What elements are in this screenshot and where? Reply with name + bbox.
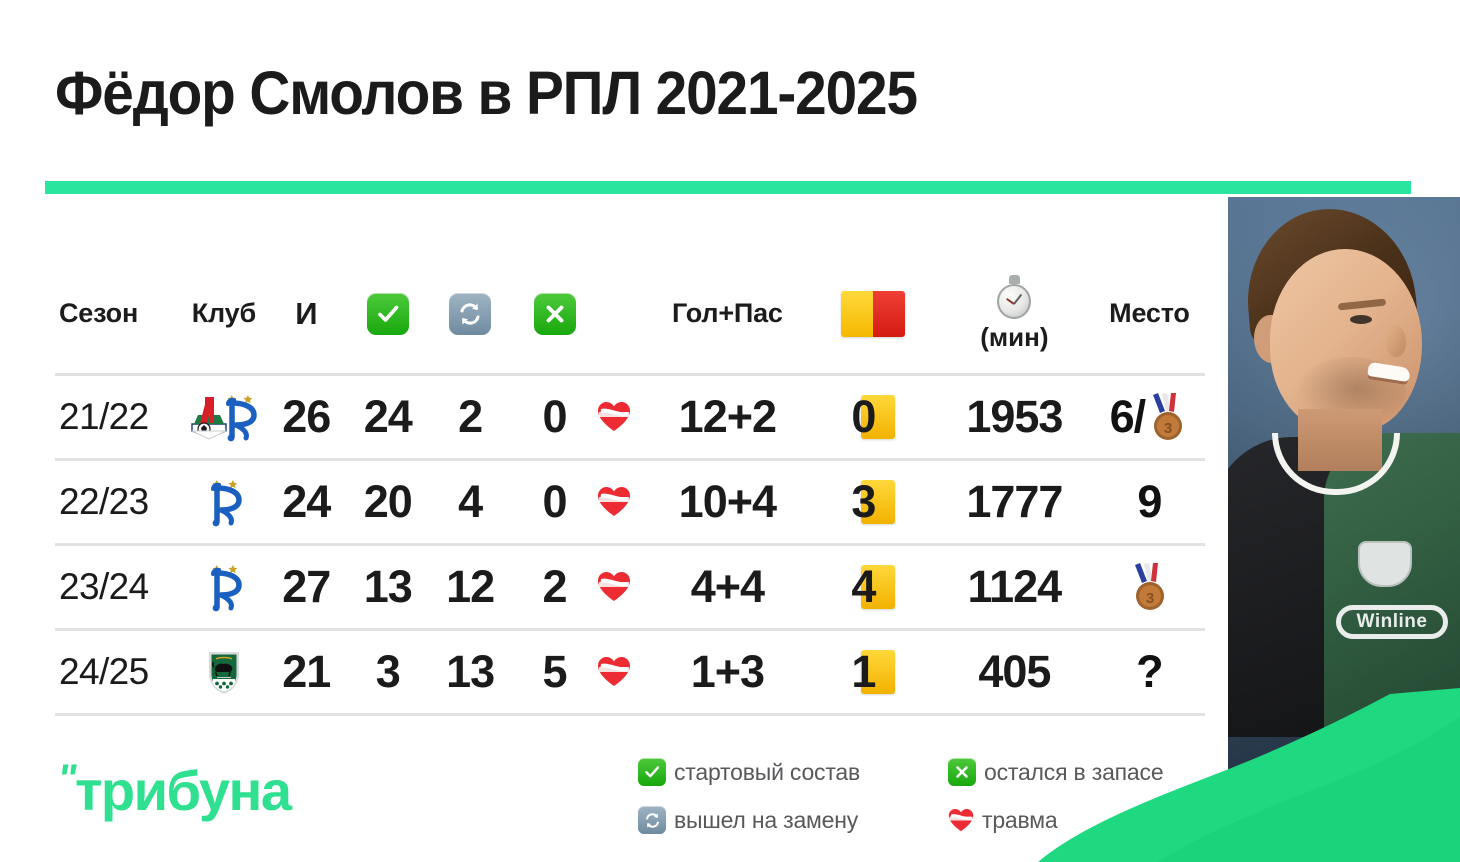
legend-label: вышел на замену xyxy=(674,807,858,834)
cell-cards: 0 xyxy=(812,376,935,458)
legend-label: травма xyxy=(982,807,1057,834)
cell-injury xyxy=(597,546,643,628)
cell-goals-assists: 12+2 xyxy=(643,376,812,458)
cell-injury xyxy=(597,376,643,458)
green-cross-icon xyxy=(534,293,576,335)
table-row[interactable]: 24/25 xyxy=(55,631,1205,716)
cell-goals-assists: 4+4 xyxy=(643,546,812,628)
green-cross-icon xyxy=(948,758,976,786)
yellow-red-card-icon xyxy=(841,291,905,337)
cell-club xyxy=(182,461,265,543)
photo-club-badge xyxy=(1358,541,1412,587)
table-row[interactable]: 21/22 xyxy=(55,376,1205,461)
table-header-row: Сезон Клуб И xyxy=(55,268,1205,376)
tribuna-wordmark: трибуна xyxy=(75,762,291,820)
cell-goals-assists: 10+4 xyxy=(643,461,812,543)
cell-club xyxy=(182,546,265,628)
legend-item-starting-lineup: стартовый состав xyxy=(638,758,948,786)
photo-nose xyxy=(1386,325,1406,357)
cell-place: 6/ 3 xyxy=(1094,376,1205,458)
dynamo-moscow-logo xyxy=(199,476,249,528)
legend-item-substitute: вышел на замену xyxy=(638,806,948,834)
injured-heart-icon xyxy=(597,571,631,603)
cell-club xyxy=(182,376,265,458)
cell-season: 24/25 xyxy=(55,631,182,713)
cell-cards: 3 xyxy=(812,461,935,543)
tribuna-logo[interactable]: " трибуна xyxy=(58,762,291,820)
cell-games: 24 xyxy=(266,461,347,543)
cell-season: 22/23 xyxy=(55,461,182,543)
red-card-half xyxy=(873,291,905,337)
cell-games: 21 xyxy=(266,631,347,713)
dynamo-moscow-logo xyxy=(214,391,264,443)
page-title: Фёдор Смолов в РПЛ 2021-2025 xyxy=(55,58,917,128)
green-check-icon xyxy=(367,293,409,335)
photo-sponsor-text: Winline xyxy=(1336,605,1448,639)
cell-starts: 13 xyxy=(347,546,428,628)
cell-games: 27 xyxy=(266,546,347,628)
cell-minutes: 1124 xyxy=(935,546,1094,628)
stats-table: Сезон Клуб И xyxy=(55,268,1205,716)
infographic-page: Фёдор Смолов в РПЛ 2021-2025 Winline Сез… xyxy=(0,0,1460,862)
krasnodar-logo xyxy=(199,646,249,698)
header-cards xyxy=(812,268,935,359)
cell-cards: 4 xyxy=(812,546,935,628)
header-club: Клуб xyxy=(182,268,265,359)
cell-starts: 20 xyxy=(347,461,428,543)
cell-minutes: 405 xyxy=(935,631,1094,713)
player-photo: Winline xyxy=(1228,197,1460,862)
header-season: Сезон xyxy=(55,268,182,359)
cell-season: 21/22 xyxy=(55,376,182,458)
injured-heart-icon xyxy=(597,486,631,518)
cell-bench: 0 xyxy=(512,461,597,543)
injured-heart-icon xyxy=(597,401,631,433)
cell-substitutions: 13 xyxy=(428,631,511,713)
cell-place: 3 xyxy=(1094,546,1205,628)
header-place: Место xyxy=(1094,268,1205,359)
legend-item-injury: травма xyxy=(948,806,1258,834)
minutes-unit-label: (мин) xyxy=(980,322,1048,353)
bronze-medal-icon: 3 xyxy=(1127,561,1171,613)
cell-place: ? xyxy=(1094,631,1205,713)
injured-heart-icon xyxy=(597,656,631,688)
legend: стартовый состав остался в запасе вышел … xyxy=(638,758,1258,834)
cell-cards: 1 xyxy=(812,631,935,713)
table-row[interactable]: 22/23 24 20 xyxy=(55,461,1205,546)
cell-substitutions: 12 xyxy=(428,546,511,628)
tribuna-quote-mark: " xyxy=(55,762,76,796)
dynamo-moscow-logo xyxy=(199,561,249,613)
legend-label: остался в запасе xyxy=(984,759,1163,786)
header-substitutions xyxy=(428,268,511,359)
header-starts xyxy=(347,268,428,359)
blue-substitution-icon xyxy=(638,806,666,834)
accent-bar xyxy=(45,181,1411,194)
cell-injury xyxy=(597,631,643,713)
header-goals-assists: Гол+Пас xyxy=(643,268,812,359)
svg-text:3: 3 xyxy=(1146,590,1154,607)
cell-club xyxy=(182,631,265,713)
cell-goals-assists: 1+3 xyxy=(643,631,812,713)
photo-eye xyxy=(1350,315,1372,324)
header-minutes: (мин) xyxy=(935,268,1094,359)
cell-substitutions: 4 xyxy=(428,461,511,543)
cell-injury xyxy=(597,461,643,543)
cell-bench: 2 xyxy=(512,546,597,628)
cell-minutes: 1953 xyxy=(935,376,1094,458)
cell-starts: 24 xyxy=(347,376,428,458)
cell-bench: 0 xyxy=(512,376,597,458)
bronze-medal-icon: 3 xyxy=(1145,391,1189,443)
cell-season: 23/24 xyxy=(55,546,182,628)
cell-place: 9 xyxy=(1094,461,1205,543)
svg-text:3: 3 xyxy=(1164,420,1172,437)
cell-substitutions: 2 xyxy=(428,376,511,458)
stopwatch-icon xyxy=(994,275,1034,321)
cell-games: 26 xyxy=(266,376,347,458)
legend-item-bench: остался в запасе xyxy=(948,758,1258,786)
injured-heart-icon xyxy=(948,808,974,833)
cell-starts: 3 xyxy=(347,631,428,713)
cell-minutes: 1777 xyxy=(935,461,1094,543)
header-bench xyxy=(512,268,597,359)
table-row[interactable]: 23/24 27 13 xyxy=(55,546,1205,631)
green-check-icon xyxy=(638,758,666,786)
header-games: И xyxy=(266,268,347,359)
cell-bench: 5 xyxy=(512,631,597,713)
blue-substitution-icon xyxy=(449,293,491,335)
legend-label: стартовый состав xyxy=(674,759,860,786)
yellow-card-half xyxy=(841,291,873,337)
header-injury-spacer xyxy=(597,268,643,359)
